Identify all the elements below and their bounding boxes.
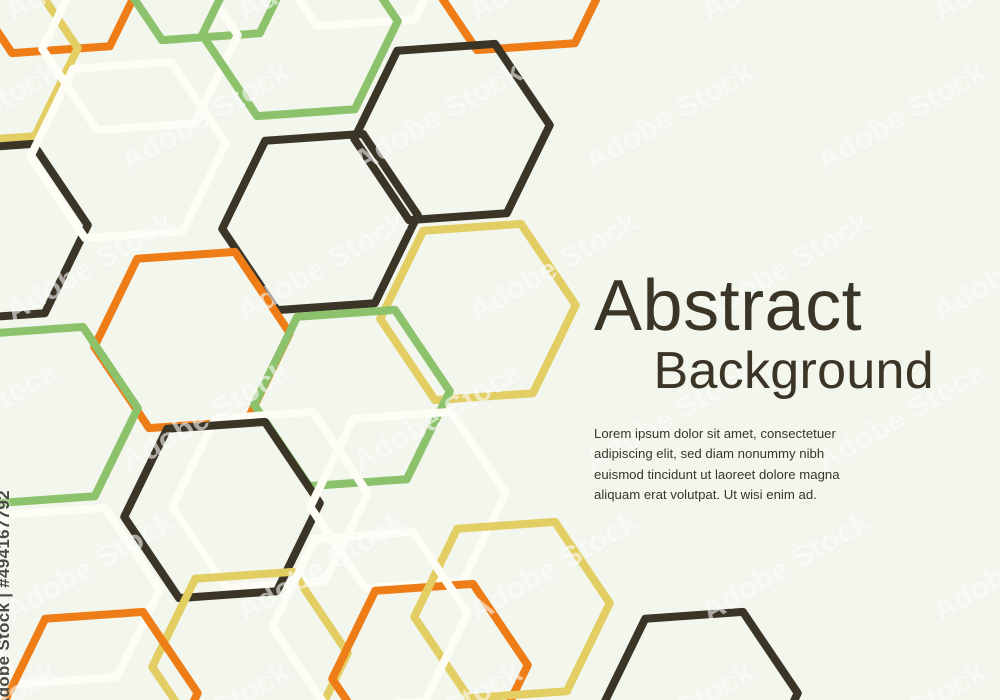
page-title-primary: Abstract: [594, 272, 934, 342]
poster-canvas: Adobe StockAdobe StockAdobe StockAdobe S…: [0, 0, 1000, 700]
body-paragraph: Lorem ipsum dolor sit amet, consectetuer…: [594, 424, 856, 504]
page-title-secondary: Background: [594, 344, 934, 399]
asset-id-watermark: Adobe Stock | #494167792: [0, 490, 14, 700]
text-block: Abstract Background Lorem ipsum dolor si…: [594, 272, 934, 505]
